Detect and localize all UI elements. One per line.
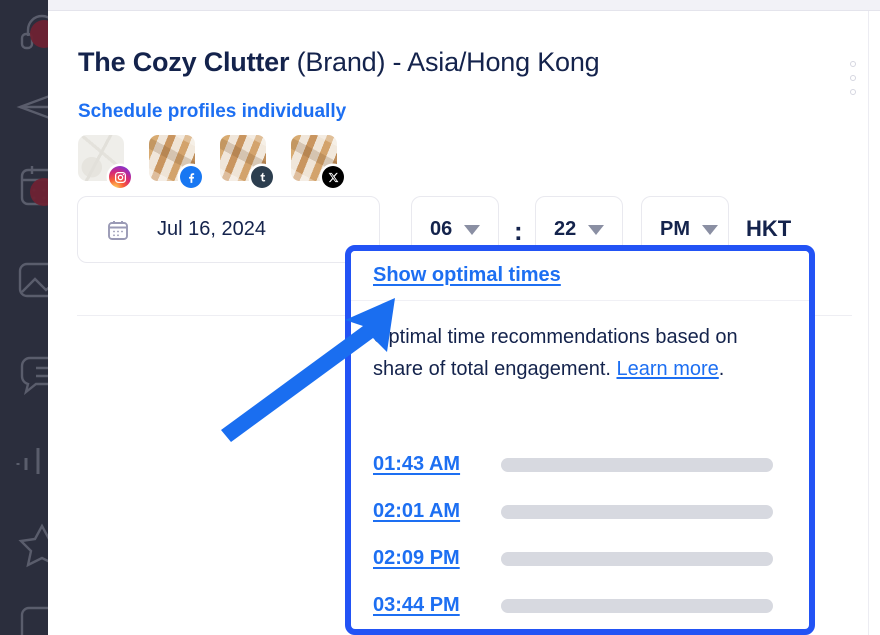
list-item[interactable]: 03:44 PM xyxy=(373,582,803,629)
optimal-times-description: Optimal time recommendations based on sh… xyxy=(373,321,793,385)
optimal-times-toggle-row: Show optimal times xyxy=(351,251,809,301)
sidebar-item-analytics[interactable] xyxy=(14,438,48,488)
optimal-time-label[interactable]: 01:43 AM xyxy=(373,453,501,476)
profile-avatar-facebook[interactable] xyxy=(149,135,195,181)
profile-avatar-instagram[interactable] xyxy=(78,135,124,181)
timezone-label: HKT xyxy=(746,216,791,242)
list-item[interactable]: 01:43 AM xyxy=(373,441,803,488)
list-item[interactable]: 02:01 AM xyxy=(373,488,803,535)
tumblr-icon xyxy=(251,166,273,188)
optimal-time-label[interactable]: 02:09 PM xyxy=(373,547,501,570)
engagement-bar-track xyxy=(501,599,773,613)
page-title-brand: The Cozy Clutter xyxy=(78,47,297,77)
chevron-down-icon xyxy=(464,225,480,235)
date-picker-field[interactable]: Jul 16, 2024 xyxy=(77,196,380,263)
top-bar-strip xyxy=(48,0,880,11)
list-item[interactable]: 02:09 PM xyxy=(373,535,803,582)
engagement-bar-track xyxy=(501,505,773,519)
x-icon xyxy=(322,166,344,188)
sidebar-item-comment[interactable] xyxy=(14,348,48,398)
left-sidebar xyxy=(0,0,48,635)
right-scroll-gutter[interactable] xyxy=(868,11,880,635)
show-optimal-times-link[interactable]: Show optimal times xyxy=(373,264,561,287)
meridiem-value: PM xyxy=(660,218,690,241)
engagement-bar-track xyxy=(501,458,773,472)
facebook-icon xyxy=(180,166,202,188)
date-value: Jul 16, 2024 xyxy=(157,218,266,241)
optimal-times-panel: Show optimal times Optimal time recommen… xyxy=(345,245,815,635)
hour-value: 06 xyxy=(430,218,452,241)
page-title: The Cozy Clutter (Brand) - Asia/Hong Kon… xyxy=(78,47,600,78)
profile-avatar-tumblr[interactable] xyxy=(220,135,266,181)
sidebar-item-image[interactable] xyxy=(14,254,48,304)
profile-avatar-x[interactable] xyxy=(291,135,337,181)
minute-value: 22 xyxy=(554,218,576,241)
chevron-down-icon xyxy=(702,225,718,235)
optimal-time-label[interactable]: 03:44 PM xyxy=(373,594,501,617)
schedule-profiles-individually-link[interactable]: Schedule profiles individually xyxy=(78,101,346,123)
description-period: . xyxy=(719,358,725,380)
learn-more-link[interactable]: Learn more xyxy=(617,358,719,380)
instagram-icon xyxy=(109,166,131,188)
chevron-down-icon xyxy=(588,225,604,235)
more-vertical-icon[interactable] xyxy=(843,61,863,95)
engagement-bar-track xyxy=(501,552,773,566)
calendar-icon xyxy=(106,218,130,242)
optimal-times-list: 01:43 AM 02:01 AM 02:09 PM 03:44 PM xyxy=(373,441,803,629)
sidebar-item-inbox[interactable] xyxy=(14,600,48,635)
sidebar-item-star[interactable] xyxy=(14,520,48,570)
app-root: The Cozy Clutter (Brand) - Asia/Hong Kon… xyxy=(0,0,880,635)
optimal-time-label[interactable]: 02:01 AM xyxy=(373,500,501,523)
time-separator: : xyxy=(514,216,523,247)
sidebar-item-send[interactable] xyxy=(14,82,48,132)
page-title-suffix: (Brand) - Asia/Hong Kong xyxy=(297,47,600,77)
